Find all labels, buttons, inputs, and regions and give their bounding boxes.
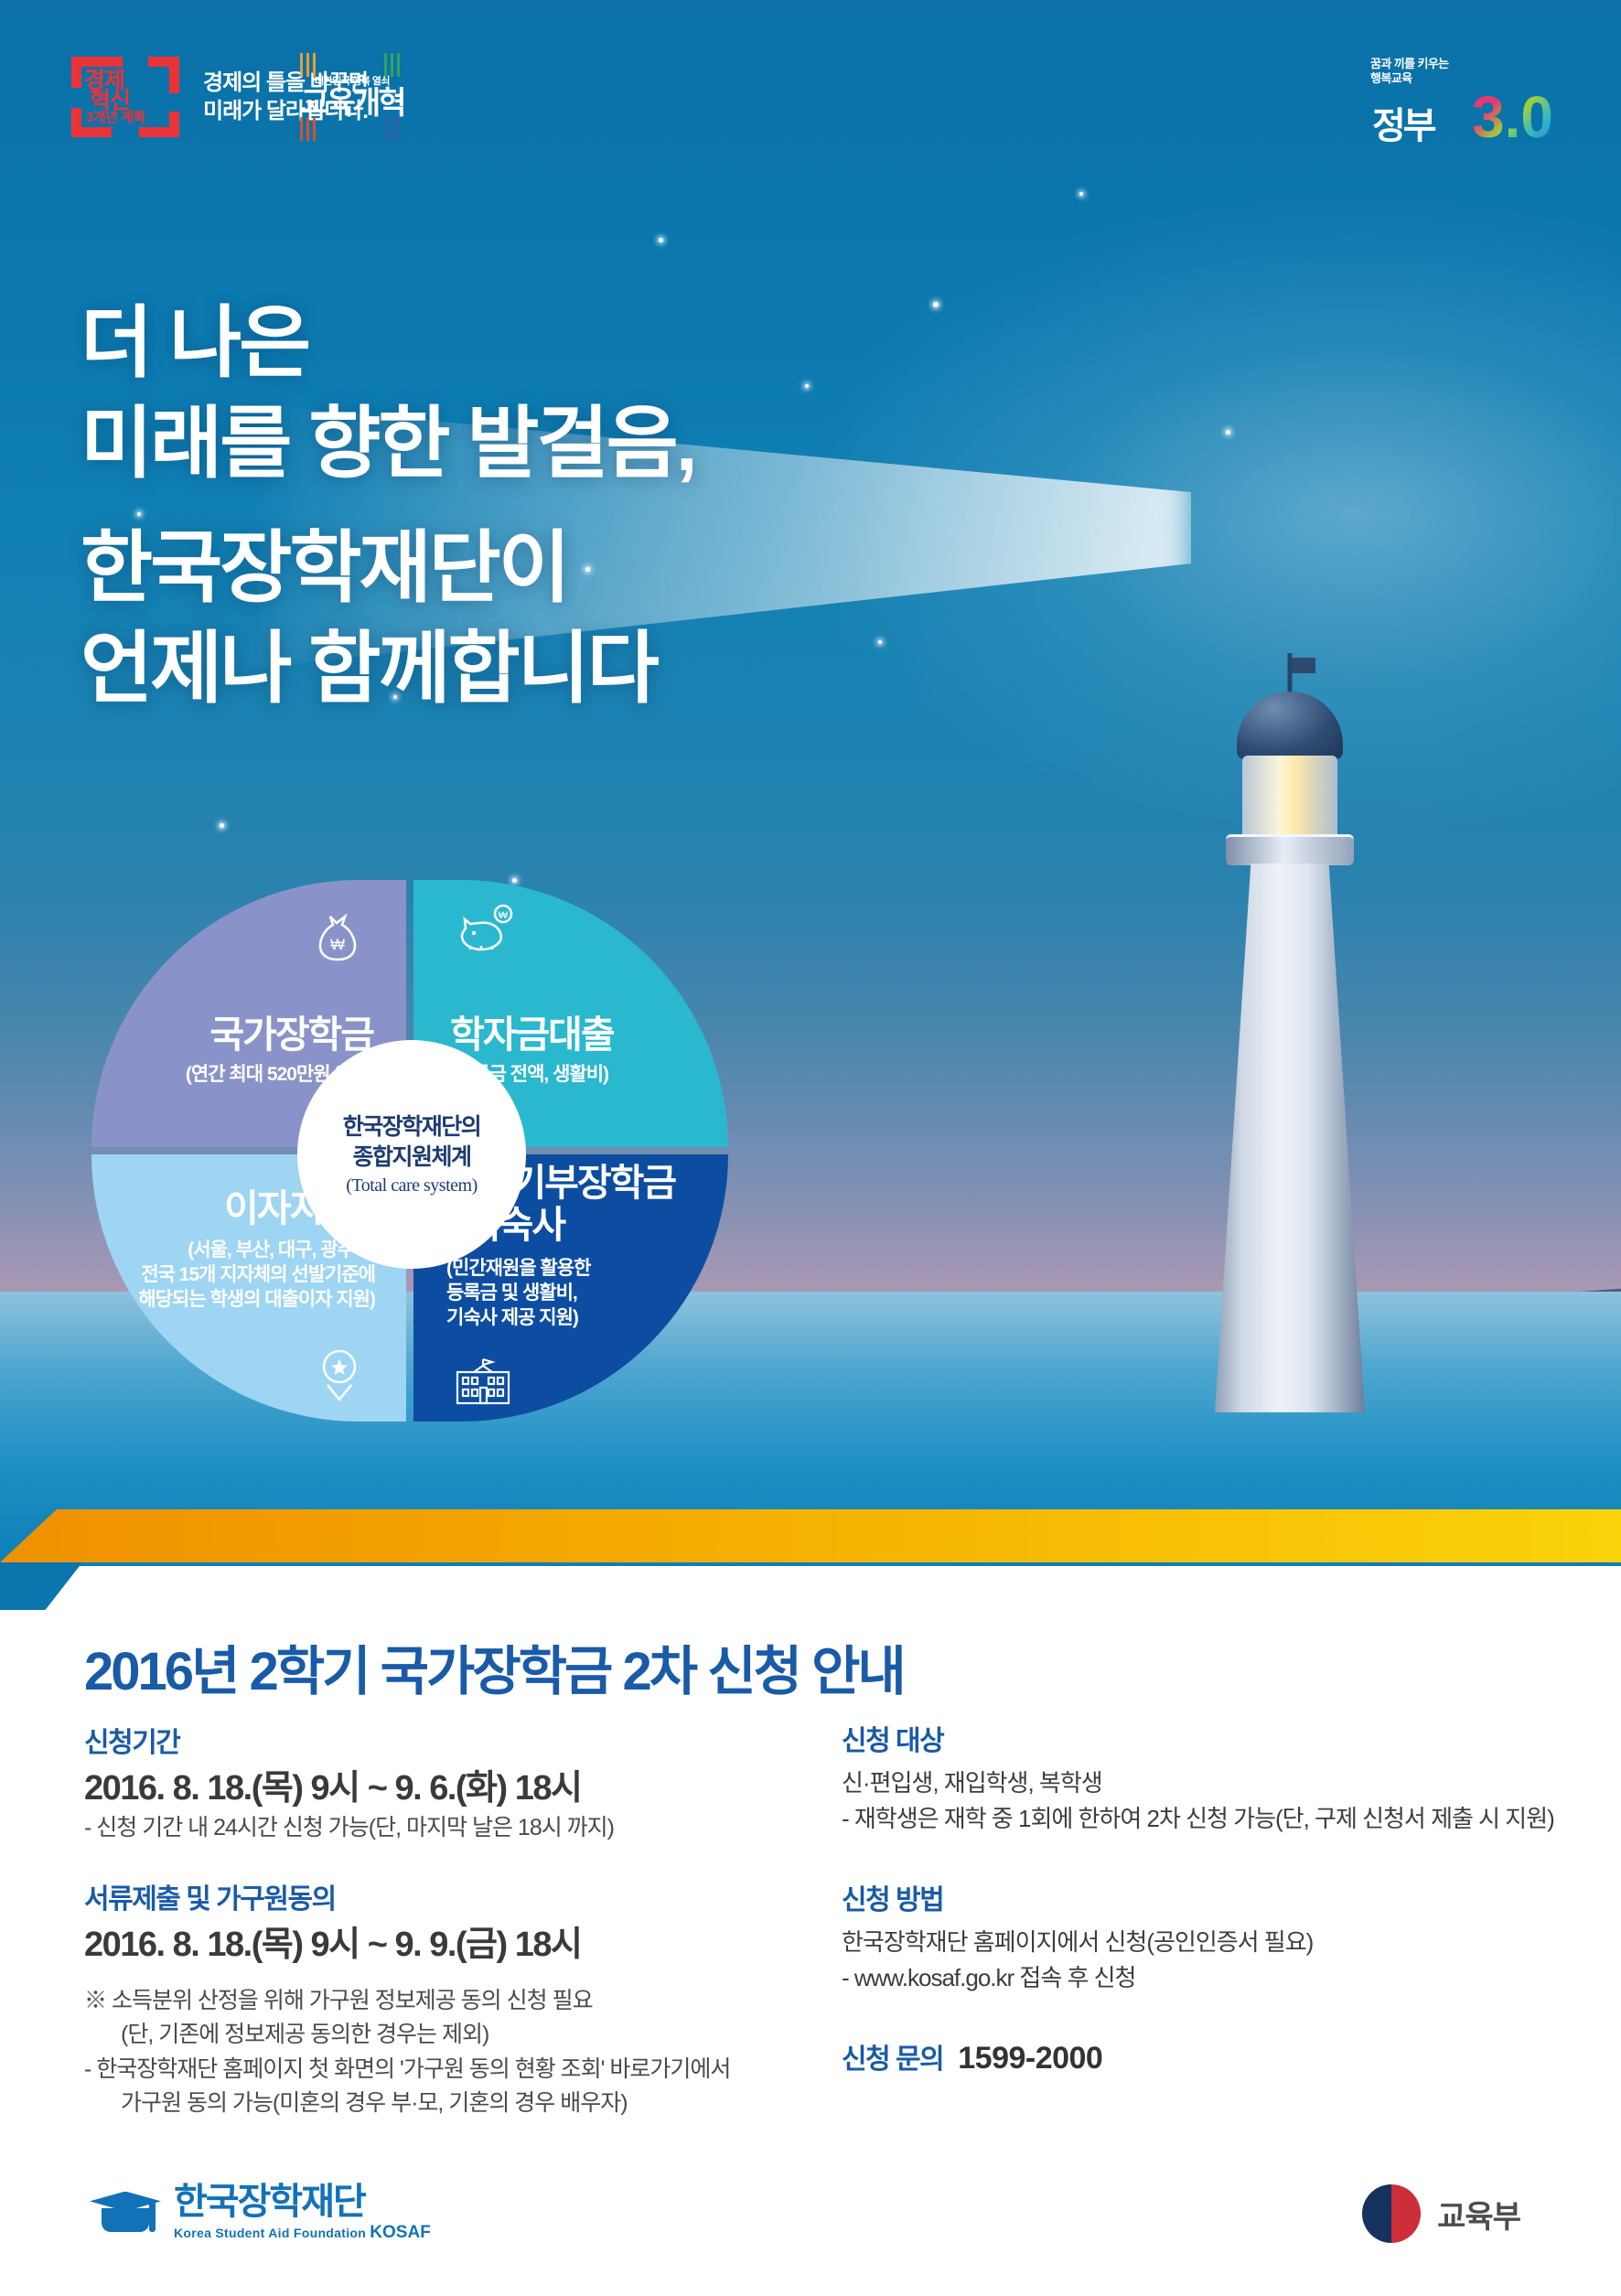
announcement-title: 2016년 2학기 국가장학금 2차 신청 안내 <box>84 1628 904 1705</box>
lighthouse <box>1153 607 1427 1412</box>
quadrant-title: 국가장학금 <box>209 1015 373 1055</box>
documents-label: 서류제출 및 가구원동의 <box>84 1876 816 1916</box>
education-reform-logo: 대한민국 행복 열쇠 교육개혁 <box>302 53 403 141</box>
quadrant-subtitle-line2: 등록금 및 생활비, <box>446 1282 590 1306</box>
headline-line-2: 미래를 향한 발걸음, <box>81 393 695 494</box>
period-label: 신청기간 <box>84 1720 816 1760</box>
headline-line-3: 한국장학재단이 <box>81 518 695 618</box>
target-label: 신청 대상 <box>842 1718 1564 1758</box>
method-note[interactable]: - www.kosaf.go.kr 접속 후 신청 <box>842 1960 1564 1996</box>
hub-line-2: 종합지원체계 <box>352 1143 470 1173</box>
quadrant-subtitle-line2: 전국 15개 지자체의 선발기준에 <box>138 1263 375 1288</box>
kosaf-name-en: Korea Student Aid Foundation KOSAF <box>174 2223 431 2243</box>
method-label: 신청 방법 <box>842 1877 1564 1917</box>
location-star-icon <box>315 1348 364 1401</box>
contact-row: 신청 문의 1599-2000 <box>842 2036 1564 2076</box>
total-care-system-diagram: ₩ 국가장학금 (연간 최대 520만원 이상) ₩ 학자금대출 (등록금 전액… <box>91 880 732 1429</box>
announcement-section: 2016년 2학기 국가장학금 2차 신청 안내 신청기간 2016. 8. 1… <box>0 1610 1621 2296</box>
quadrant-subtitle: (민간재원을 활용한 등록금 및 생활비, 기숙사 제공 지원) <box>446 1257 590 1331</box>
kosaf-name-kr: 한국장학재단 <box>174 2183 431 2220</box>
education-reform-title: 교육개혁 <box>300 88 403 119</box>
econ-badge-line3: 3개년 계획 <box>86 111 145 124</box>
documents-note-4: 가구원 동의 가능(미혼의 경우 부·모, 기혼의 경우 배우자) <box>84 2087 816 2121</box>
period-note: - 신청 기간 내 24시간 신청 가능(단, 마지막 날은 18시 까지) <box>84 1811 816 1846</box>
quadrant-subtitle-line1: (민간재원을 활용한 <box>446 1257 590 1282</box>
gov30-version: 3.0 <box>1472 88 1553 146</box>
announcement-left-column: 신청기간 2016. 8. 18.(목) 9시 ~ 9. 6.(화) 18시 -… <box>84 1720 816 2121</box>
documents-value: 2016. 8. 18.(목) 9시 ~ 9. 9.(금) 18시 <box>84 1924 816 1968</box>
headline-line-4: 언제나 함께합니다 <box>81 618 695 719</box>
documents-note-1: ※ 소득분위 산정을 위해 가구원 정보제공 동의 신청 필요 <box>84 1984 816 2019</box>
period-value: 2016. 8. 18.(목) 9시 ~ 9. 6.(화) 18시 <box>84 1767 816 1811</box>
star-icon <box>933 302 939 307</box>
gov30-tagline-line2: 행복교육 <box>1370 71 1449 86</box>
money-bag-icon: ₩ <box>311 911 364 964</box>
diagram-hub: 한국장학재단의 종합지원체계 (Total care system) <box>297 1040 526 1269</box>
star-icon <box>1226 430 1230 435</box>
gov30-tagline: 꿈과 끼를 키우는 행복교육 <box>1370 57 1449 87</box>
target-value: 신·편입생, 재입학생, 복학생 <box>842 1765 1564 1801</box>
headline-line-1: 더 나은 <box>81 293 695 393</box>
gov30-tagline-line1: 꿈과 끼를 키우는 <box>1370 57 1449 71</box>
ministry-of-education-logo: 교육부 <box>1362 2184 1520 2243</box>
quadrant-subtitle: (서울, 부산, 대구, 광주 등 전국 15개 지자체의 선발기준에 해당되는… <box>138 1239 375 1313</box>
svg-text:₩: ₩ <box>330 936 345 953</box>
taegeuk-icon <box>1362 2184 1421 2243</box>
star-icon <box>1079 192 1083 196</box>
contact-number: 1599-2000 <box>958 2041 1102 2076</box>
graduation-cap-icon <box>90 2188 161 2239</box>
documents-note-3: - 한국장학재단 홈페이지 첫 화면의 '가구원 동의 현황 조회' 바로가기에… <box>84 2053 816 2087</box>
kosaf-logo: 한국장학재단 Korea Student Aid Foundation KOSA… <box>90 2183 431 2243</box>
star-icon <box>805 384 809 388</box>
piggy-bank-icon: ₩ <box>459 904 516 953</box>
government-30-logo: 꿈과 끼를 키우는 행복교육 정부 3.0 <box>1370 53 1553 148</box>
hero-night-sky: 경제 혁신 3개년 계획 경제의 틀을 바꾸면 미래가 달라집니다. 대한민국 … <box>0 0 1621 1566</box>
star-icon <box>878 640 882 644</box>
kosaf-abbr: KOSAF <box>370 2223 431 2242</box>
hub-line-1: 한국장학재단의 <box>343 1112 481 1143</box>
diagonal-orange-band <box>0 1509 1621 1562</box>
star-icon <box>220 823 224 828</box>
quadrant-subtitle-line3: 해당되는 학생의 대출이자 지원) <box>138 1288 375 1313</box>
documents-note-2: (단, 기존에 정보제공 동의한 경우는 제외) <box>84 2018 816 2053</box>
method-value: 한국장학재단 홈페이지에서 신청(공인인증서 필요) <box>842 1925 1564 1960</box>
economic-innovation-badge: 경제 혁신 3개년 계획 <box>71 57 179 137</box>
ministry-label: 교육부 <box>1437 2192 1520 2237</box>
diagonal-blue-accent <box>0 1562 82 1610</box>
target-note: - 재학생은 재학 중 1회에 한하여 2차 신청 가능(단, 구제 신청서 제… <box>842 1801 1564 1837</box>
quadrant-subtitle-line3: 기숙사 제공 지원) <box>446 1306 590 1331</box>
star-icon <box>659 238 663 242</box>
scholarship-poster: 경제 혁신 3개년 계획 경제의 틀을 바꾸면 미래가 달라집니다. 대한민국 … <box>0 0 1621 2296</box>
announcement-right-column: 신청 대상 신·편입생, 재입학생, 복학생 - 재학생은 재학 중 1회에 한… <box>842 1718 1564 2076</box>
quadrant-title: 학자금대출 <box>450 1015 614 1055</box>
hero-headline: 더 나은 미래를 향한 발걸음, 한국장학재단이 언제나 함께합니다 <box>81 293 695 719</box>
hub-line-3: (Total care system) <box>346 1175 477 1196</box>
svg-text:₩: ₩ <box>499 910 509 921</box>
gov30-label: 정부 <box>1372 108 1434 145</box>
dormitory-building-icon <box>454 1357 512 1405</box>
contact-label: 신청 문의 <box>842 2036 943 2076</box>
